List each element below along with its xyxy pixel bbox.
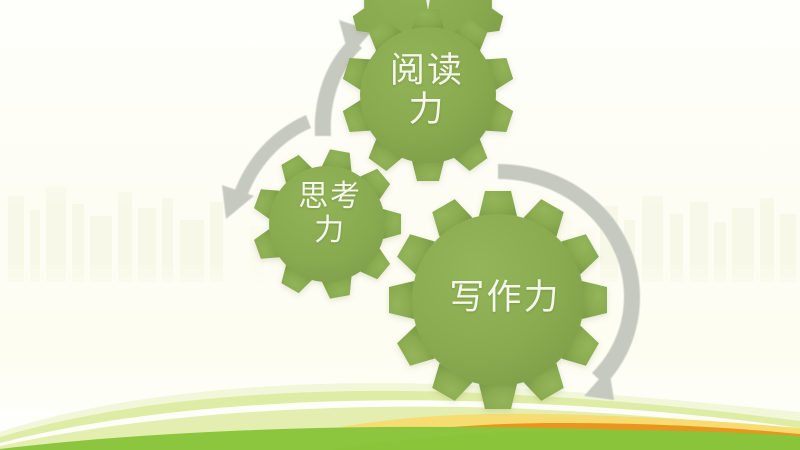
gear-reading [336, 0, 520, 196]
gear-illustration-svg [0, 0, 800, 450]
illustration-canvas: 阅读 力 思考 力 写作力 [0, 0, 800, 450]
